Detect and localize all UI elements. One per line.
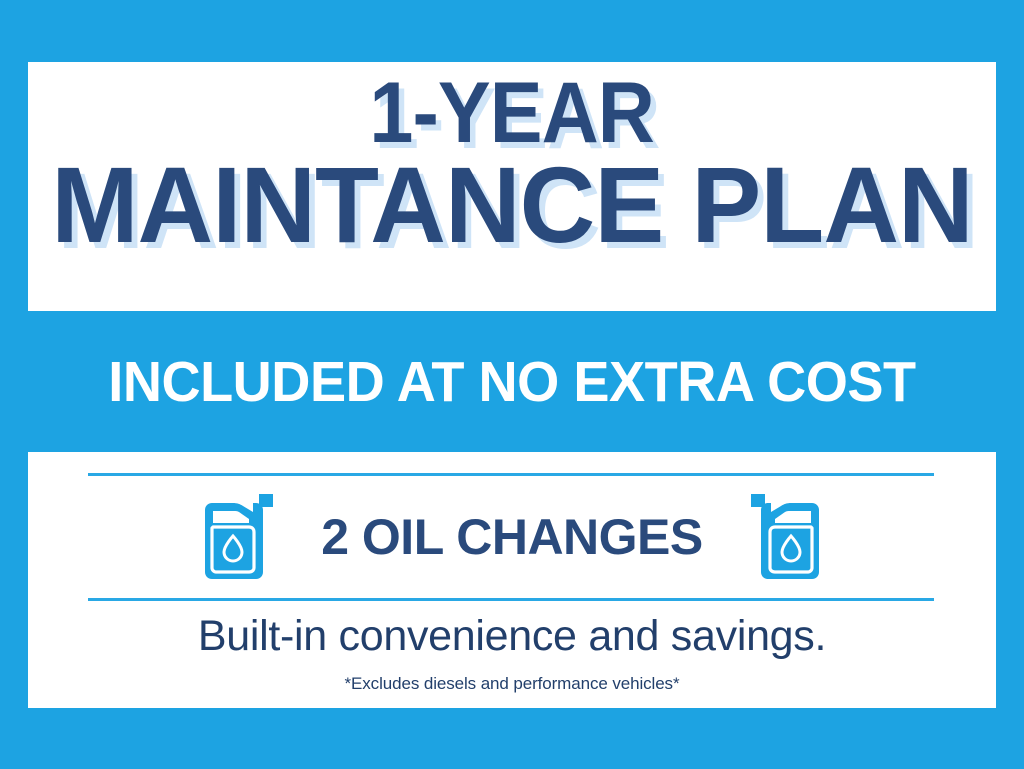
subheadline-band: INCLUDED AT NO EXTRA COST [0,311,1024,452]
oil-can-icon-left [203,494,275,580]
promo-card: 1-YEAR MAINTANCE PLAN INCLUDED AT NO EXT… [0,0,1024,769]
oil-can-icon-right [749,494,821,580]
details-panel: 2 OIL CHANGES Built-in convenience and s… [28,452,996,708]
headline-line-2: MAINTANCE PLAN [51,155,972,254]
divider-bottom [88,598,934,601]
headline-line-1: 1-YEAR [370,74,655,153]
offer-label: 2 OIL CHANGES [321,508,703,566]
offer-row: 2 OIL CHANGES [28,476,996,598]
disclaimer: *Excludes diesels and performance vehicl… [28,674,996,694]
headline-panel: 1-YEAR MAINTANCE PLAN [28,62,996,311]
tagline: Built-in convenience and savings. [28,612,996,661]
subheadline: INCLUDED AT NO EXTRA COST [108,349,915,415]
